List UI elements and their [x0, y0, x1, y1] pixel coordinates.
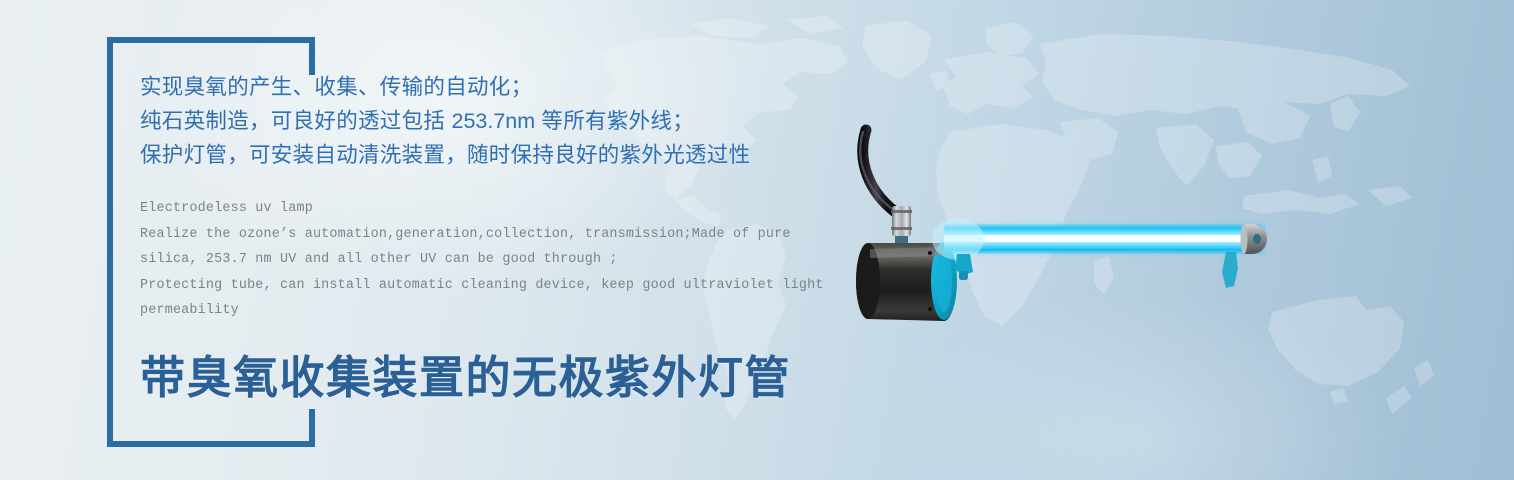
nozzle-tip — [959, 271, 968, 280]
connector-ring-bottom — [891, 227, 912, 230]
english-line-4: Protecting tube, can install automatic c… — [140, 273, 830, 299]
housing-front-face-inner — [936, 250, 952, 312]
tube-core-highlight — [944, 235, 1262, 242]
tube-end-cap-ring — [1241, 224, 1248, 254]
chinese-feature-line-1: 实现臭氧的产生、收集、传输的自动化； — [140, 70, 860, 104]
english-line-5: permeability — [140, 298, 830, 324]
product-image — [840, 110, 1460, 320]
tube-root-flare — [932, 218, 984, 260]
frame-bottom-right-stub — [309, 409, 315, 447]
connector-ring-top — [891, 210, 912, 213]
chinese-feature-line-3: 保护灯管，可安装自动清洗装置，随时保持良好的紫外光透过性 — [140, 138, 860, 172]
product-banner: 实现臭氧的产生、收集、传输的自动化； 纯石英制造，可良好的透过包括 253.7n… — [0, 0, 1514, 480]
english-line-3: silica, 253.7 nm UV and all other UV can… — [140, 247, 830, 273]
tube-end-cap-dot — [1253, 234, 1261, 244]
text-content: 实现臭氧的产生、收集、传输的自动化； 纯石英制造，可良好的透过包括 253.7n… — [140, 70, 860, 406]
page-title: 带臭氧收集装置的无极紫外灯管 — [140, 350, 860, 406]
english-line-2: Realize the ozone’s automation,generatio… — [140, 222, 830, 248]
housing-screw-top — [928, 251, 932, 255]
power-cable — [863, 130, 898, 214]
chinese-feature-line-2-suffix: 等所有紫外线； — [535, 109, 694, 133]
english-line-1: Electrodeless uv lamp — [140, 196, 830, 222]
wavelength-value: 253.7nm — [451, 109, 535, 133]
frame-left-border — [107, 37, 113, 447]
chinese-feature-line-2-prefix: 纯石英制造，可良好的透过包括 — [140, 109, 451, 133]
chinese-feature-line-2: 纯石英制造，可良好的透过包括 253.7nm 等所有紫外线； — [140, 104, 860, 138]
frame-bottom-border — [107, 441, 315, 447]
english-description: Electrodeless uv lamp Realize the ozone’… — [140, 196, 830, 324]
housing-screw-bottom — [928, 307, 932, 311]
chinese-feature-list: 实现臭氧的产生、收集、传输的自动化； 纯石英制造，可良好的透过包括 253.7n… — [140, 70, 860, 172]
frame-top-border — [107, 37, 315, 43]
